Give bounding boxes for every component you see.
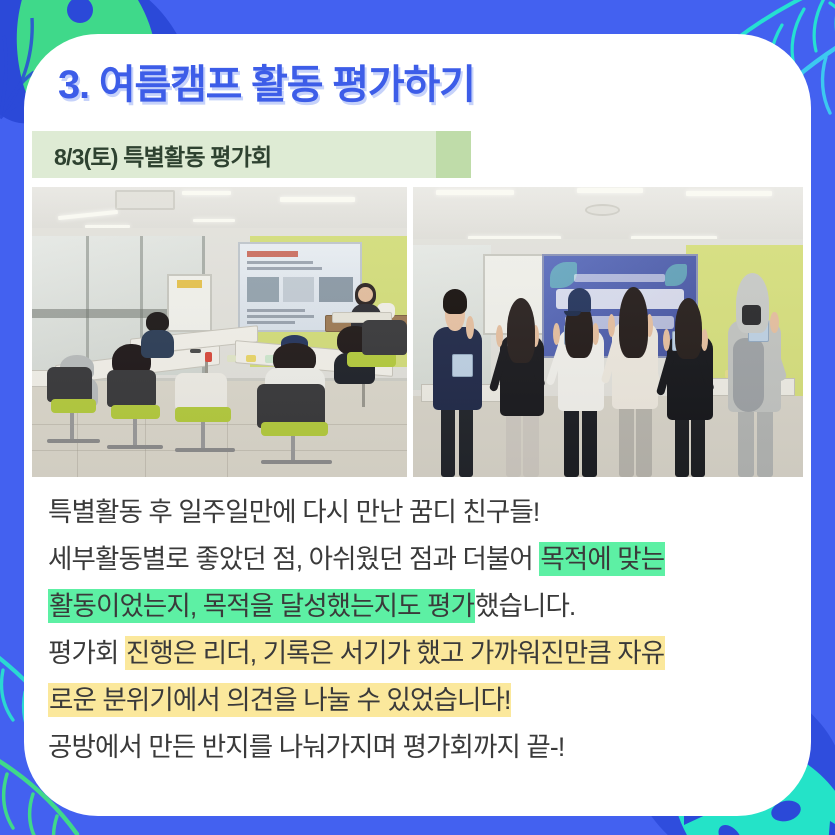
page-title: 3. 여름캠프 활동 평가하기: [58, 52, 475, 110]
body-line: 로운 분위기에서 의견을 나눌 수 있었습니다!: [48, 677, 788, 724]
body-text: 특별활동 후 일주일만에 다시 만난 꿈디 친구들!: [48, 497, 539, 527]
body-text: 공방에서 만든 반지를 나눠가지며 평가회까지 끝-!: [48, 732, 564, 762]
subtitle-badge: 8/3(토) 특별활동 평가회: [32, 131, 471, 178]
photo-strip: [32, 187, 803, 477]
group-portrait-photo: [413, 187, 803, 477]
body-text: 세부활동별로 좋았던 점, 아쉬웠던 점과 더불어: [48, 544, 539, 574]
seminar-room-photo: [32, 187, 407, 477]
body-copy: 특별활동 후 일주일만에 다시 만난 꿈디 친구들!세부활동별로 좋았던 점, …: [48, 489, 788, 771]
highlighted-text-yellow: 진행은 리더, 기록은 서기가 했고 가까워진만큼 자유: [125, 636, 665, 670]
highlighted-text-green: 목적에 맞는: [539, 542, 665, 576]
content-card: 3. 여름캠프 활동 평가하기 8/3(토) 특별활동 평가회: [24, 34, 811, 816]
body-line: 특별활동 후 일주일만에 다시 만난 꿈디 친구들!: [48, 489, 788, 536]
body-line: 활동이었는지, 목적을 달성했는지도 평가했습니다.: [48, 583, 788, 630]
poster-canvas: 3. 여름캠프 활동 평가하기 8/3(토) 특별활동 평가회: [0, 0, 835, 835]
subtitle-label: 8/3(토) 특별활동 평가회: [32, 138, 271, 172]
body-text: 평가회: [48, 638, 125, 668]
highlighted-text-yellow: 로운 분위기에서 의견을 나눌 수 있었습니다!: [48, 683, 511, 717]
body-text: 했습니다.: [475, 591, 575, 621]
body-line: 세부활동별로 좋았던 점, 아쉬웠던 점과 더불어 목적에 맞는: [48, 536, 788, 583]
body-line: 공방에서 만든 반지를 나눠가지며 평가회까지 끝-!: [48, 724, 788, 771]
highlighted-text-green: 활동이었는지, 목적을 달성했는지도 평가: [48, 589, 475, 623]
body-line: 평가회 진행은 리더, 기록은 서기가 했고 가까워진만큼 자유: [48, 630, 788, 677]
